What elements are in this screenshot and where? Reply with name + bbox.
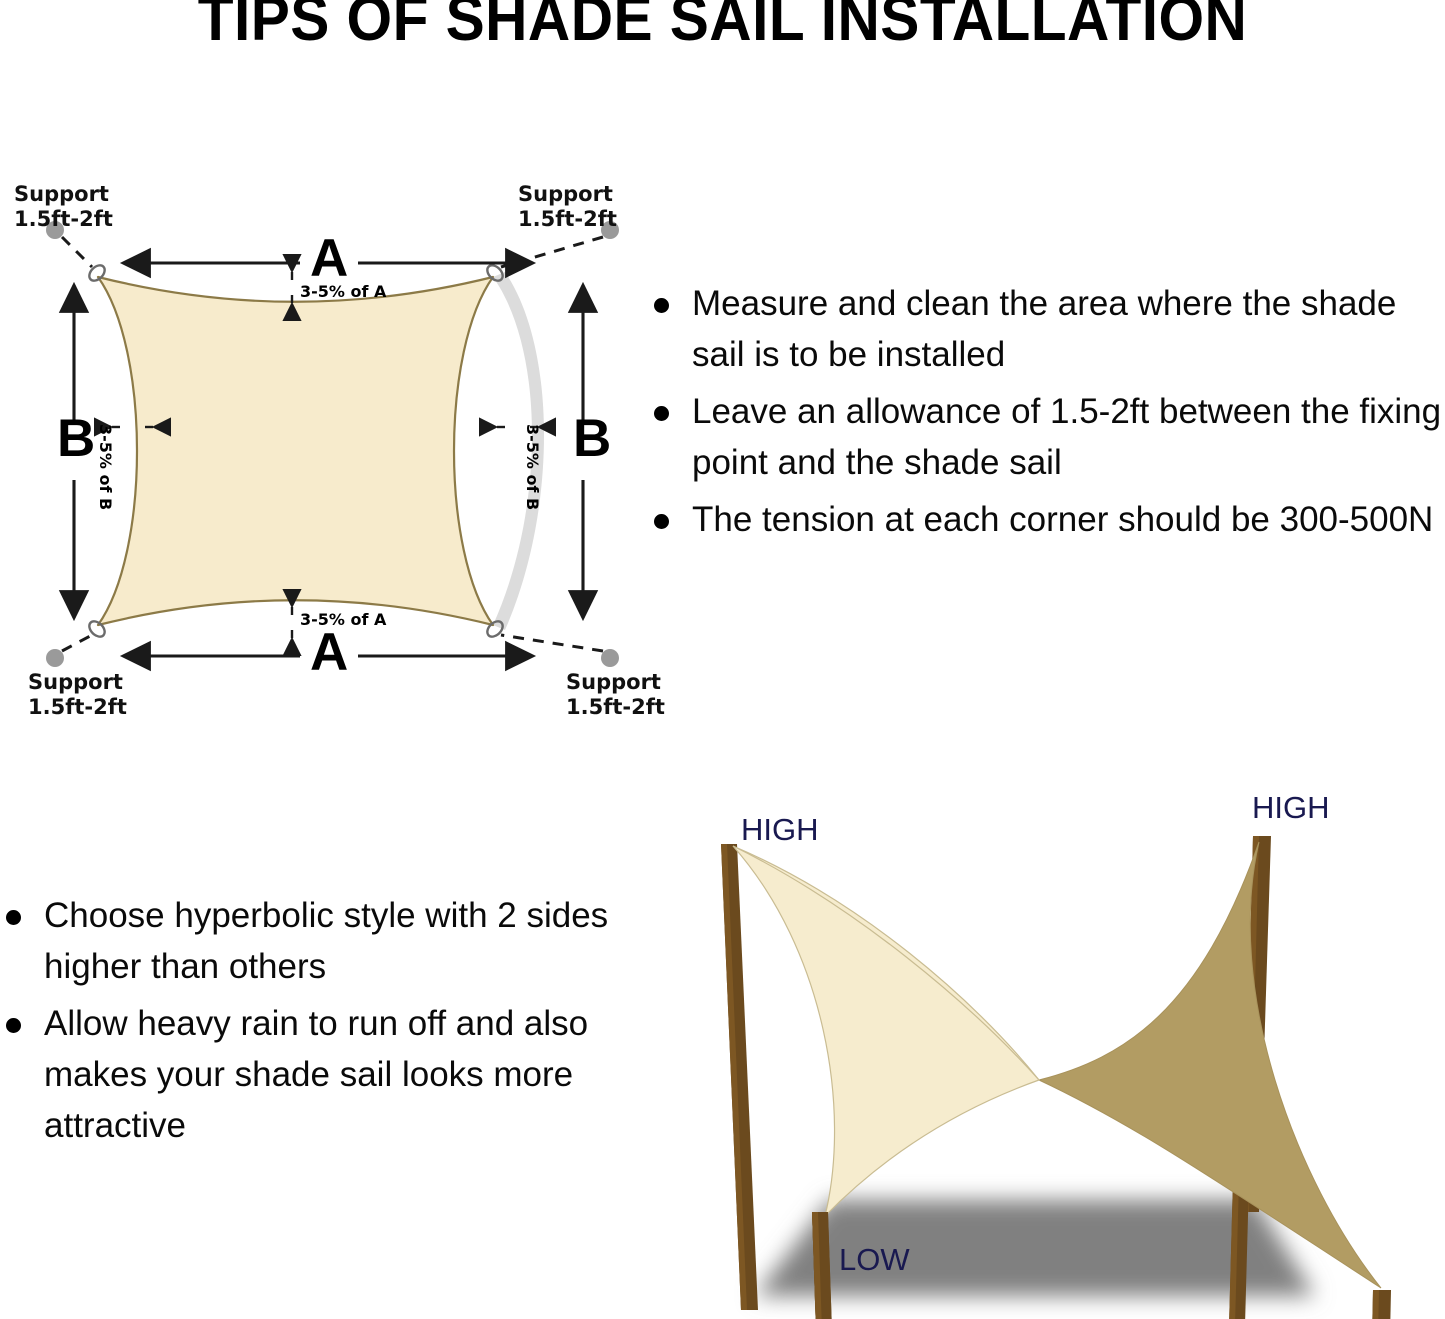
dimension-letter-bottom-A: A bbox=[310, 626, 348, 679]
tips-list-left: Choose hyperbolic style with 2 sides hig… bbox=[0, 890, 625, 1157]
list-item: Leave an allowance of 1.5-2ft between th… bbox=[648, 386, 1445, 488]
sail-panel-light bbox=[733, 846, 1039, 1216]
list-item: The tension at each corner should be 300… bbox=[648, 494, 1445, 545]
leader-bottom-right bbox=[501, 635, 603, 651]
label-high-right: HIGH bbox=[1252, 790, 1330, 825]
sail-body bbox=[98, 277, 493, 625]
support-dot-bottom-right bbox=[601, 649, 619, 667]
support-dot-bottom-left bbox=[46, 649, 64, 667]
label-low-left: LOW bbox=[839, 1242, 910, 1277]
page-title: TIPS OF SHADE SAIL INSTALLATION bbox=[51, 0, 1395, 51]
leader-bottom-left bbox=[62, 635, 92, 651]
curvature-label-top: 3-5% of A bbox=[300, 284, 386, 300]
dimension-letter-right-B: B bbox=[573, 412, 611, 465]
hyperbolic-sail-svg: HIGH HIGH LOW LOW bbox=[655, 780, 1445, 1319]
dimension-letter-left-B: B bbox=[57, 412, 95, 465]
post-high-left bbox=[721, 844, 758, 1310]
support-label-bottom-left: Support 1.5ft-2ft bbox=[28, 670, 127, 720]
list-item: Allow heavy rain to run off and also mak… bbox=[0, 998, 625, 1151]
list-item: Measure and clean the area where the sha… bbox=[648, 278, 1445, 380]
dimension-letter-top-A: A bbox=[310, 232, 348, 285]
leader-top-left bbox=[62, 237, 92, 267]
curvature-label-bottom: 3-5% of A bbox=[300, 612, 386, 628]
curvature-label-right: 3-5% of B bbox=[524, 424, 540, 510]
post-low-right bbox=[1367, 1290, 1391, 1319]
support-label-top-left: Support 1.5ft-2ft bbox=[14, 182, 113, 232]
label-high-left: HIGH bbox=[741, 812, 819, 847]
list-item: Choose hyperbolic style with 2 sides hig… bbox=[0, 890, 625, 992]
hyperbolic-sail-diagram: HIGH HIGH LOW LOW bbox=[655, 780, 1445, 1319]
infographic-page: TIPS OF SHADE SAIL INSTALLATION bbox=[0, 0, 1445, 1319]
support-label-bottom-right: Support 1.5ft-2ft bbox=[566, 670, 665, 720]
tips-list-right: Measure and clean the area where the sha… bbox=[648, 278, 1445, 551]
support-label-top-right: Support 1.5ft-2ft bbox=[518, 182, 617, 232]
curvature-label-left: 3-5% of B bbox=[97, 424, 113, 510]
